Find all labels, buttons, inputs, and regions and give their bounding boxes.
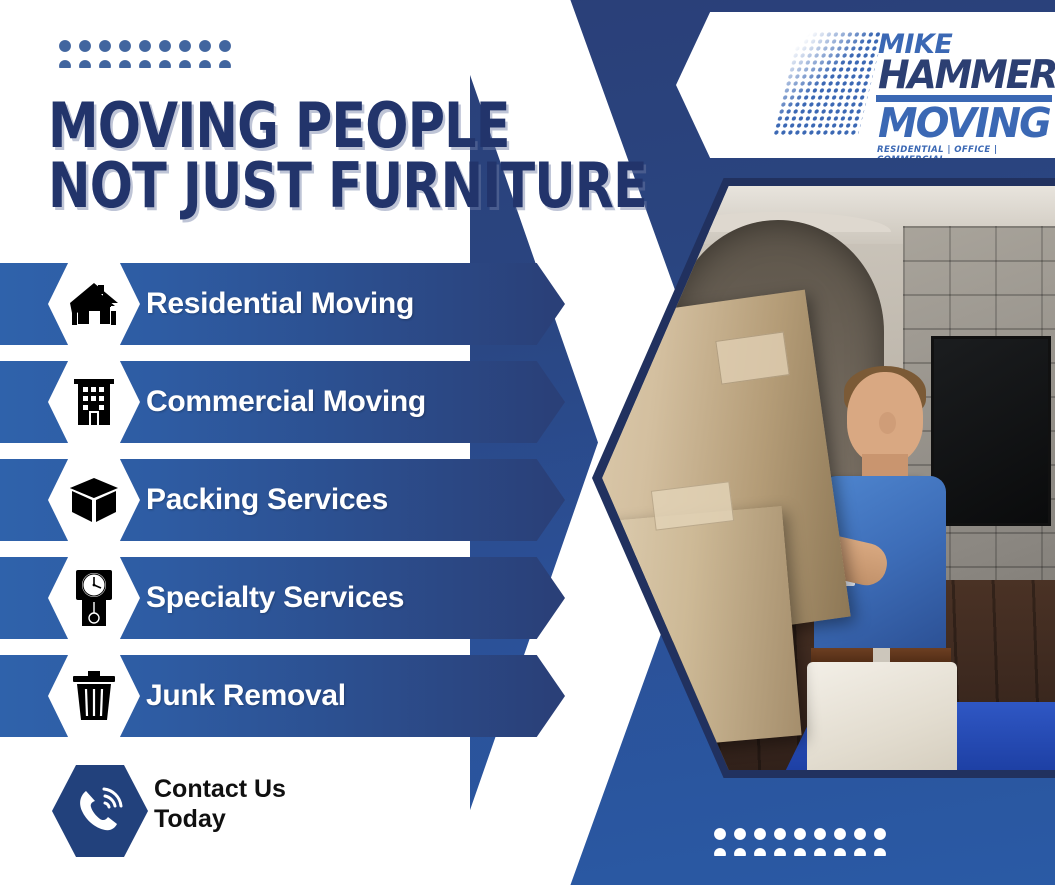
- service-item-specialty-services[interactable]: Specialty Services: [0, 557, 580, 655]
- dot-grid-top-left: [55, 36, 235, 68]
- contact-us-text: Contact Us Today: [154, 775, 286, 834]
- photo-person-shorts: [807, 662, 957, 770]
- service-item-packing-services[interactable]: Packing Services: [0, 459, 580, 557]
- headline-line-1: MOVING PEOPLE: [48, 96, 474, 156]
- service-item-residential-moving[interactable]: Residential Moving: [0, 263, 580, 361]
- service-item-junk-removal[interactable]: Junk Removal: [0, 655, 580, 753]
- contact-line-2: Today: [154, 805, 286, 835]
- logo-line-moving: MOVING: [878, 104, 1045, 143]
- logo-banner: MIKE HAMMER MOVING RESIDENTIAL | OFFICE …: [676, 12, 1055, 158]
- page-title: MOVING PEOPLE NOT JUST FURNITURE: [48, 96, 474, 216]
- marketing-graphic: MIKE HAMMER MOVING RESIDENTIAL | OFFICE …: [0, 0, 1055, 885]
- headline-line-2: NOT JUST FURNITURE: [48, 156, 474, 216]
- service-label: Packing Services: [146, 459, 388, 541]
- service-label: Residential Moving: [146, 263, 414, 345]
- service-label: Commercial Moving: [146, 361, 426, 443]
- halftone-swoosh-icon: [772, 31, 884, 137]
- service-label: Junk Removal: [146, 655, 346, 737]
- phone-ringing-icon: [52, 765, 148, 857]
- service-label: Specialty Services: [146, 557, 404, 639]
- dot-grid-bottom-right: [710, 824, 890, 856]
- contact-line-1: Contact Us: [154, 775, 286, 805]
- photo-person-ear: [879, 412, 896, 434]
- service-item-commercial-moving[interactable]: Commercial Moving: [0, 361, 580, 459]
- services-list: Residential Moving: [0, 263, 580, 753]
- contact-us-block[interactable]: Contact Us Today: [52, 765, 472, 857]
- logo-line-hammer: HAMMER: [878, 57, 1045, 94]
- company-logo: MIKE HAMMER MOVING RESIDENTIAL | OFFICE …: [794, 25, 1044, 145]
- logo-text: MIKE HAMMER MOVING RESIDENTIAL | OFFICE …: [878, 25, 1050, 165]
